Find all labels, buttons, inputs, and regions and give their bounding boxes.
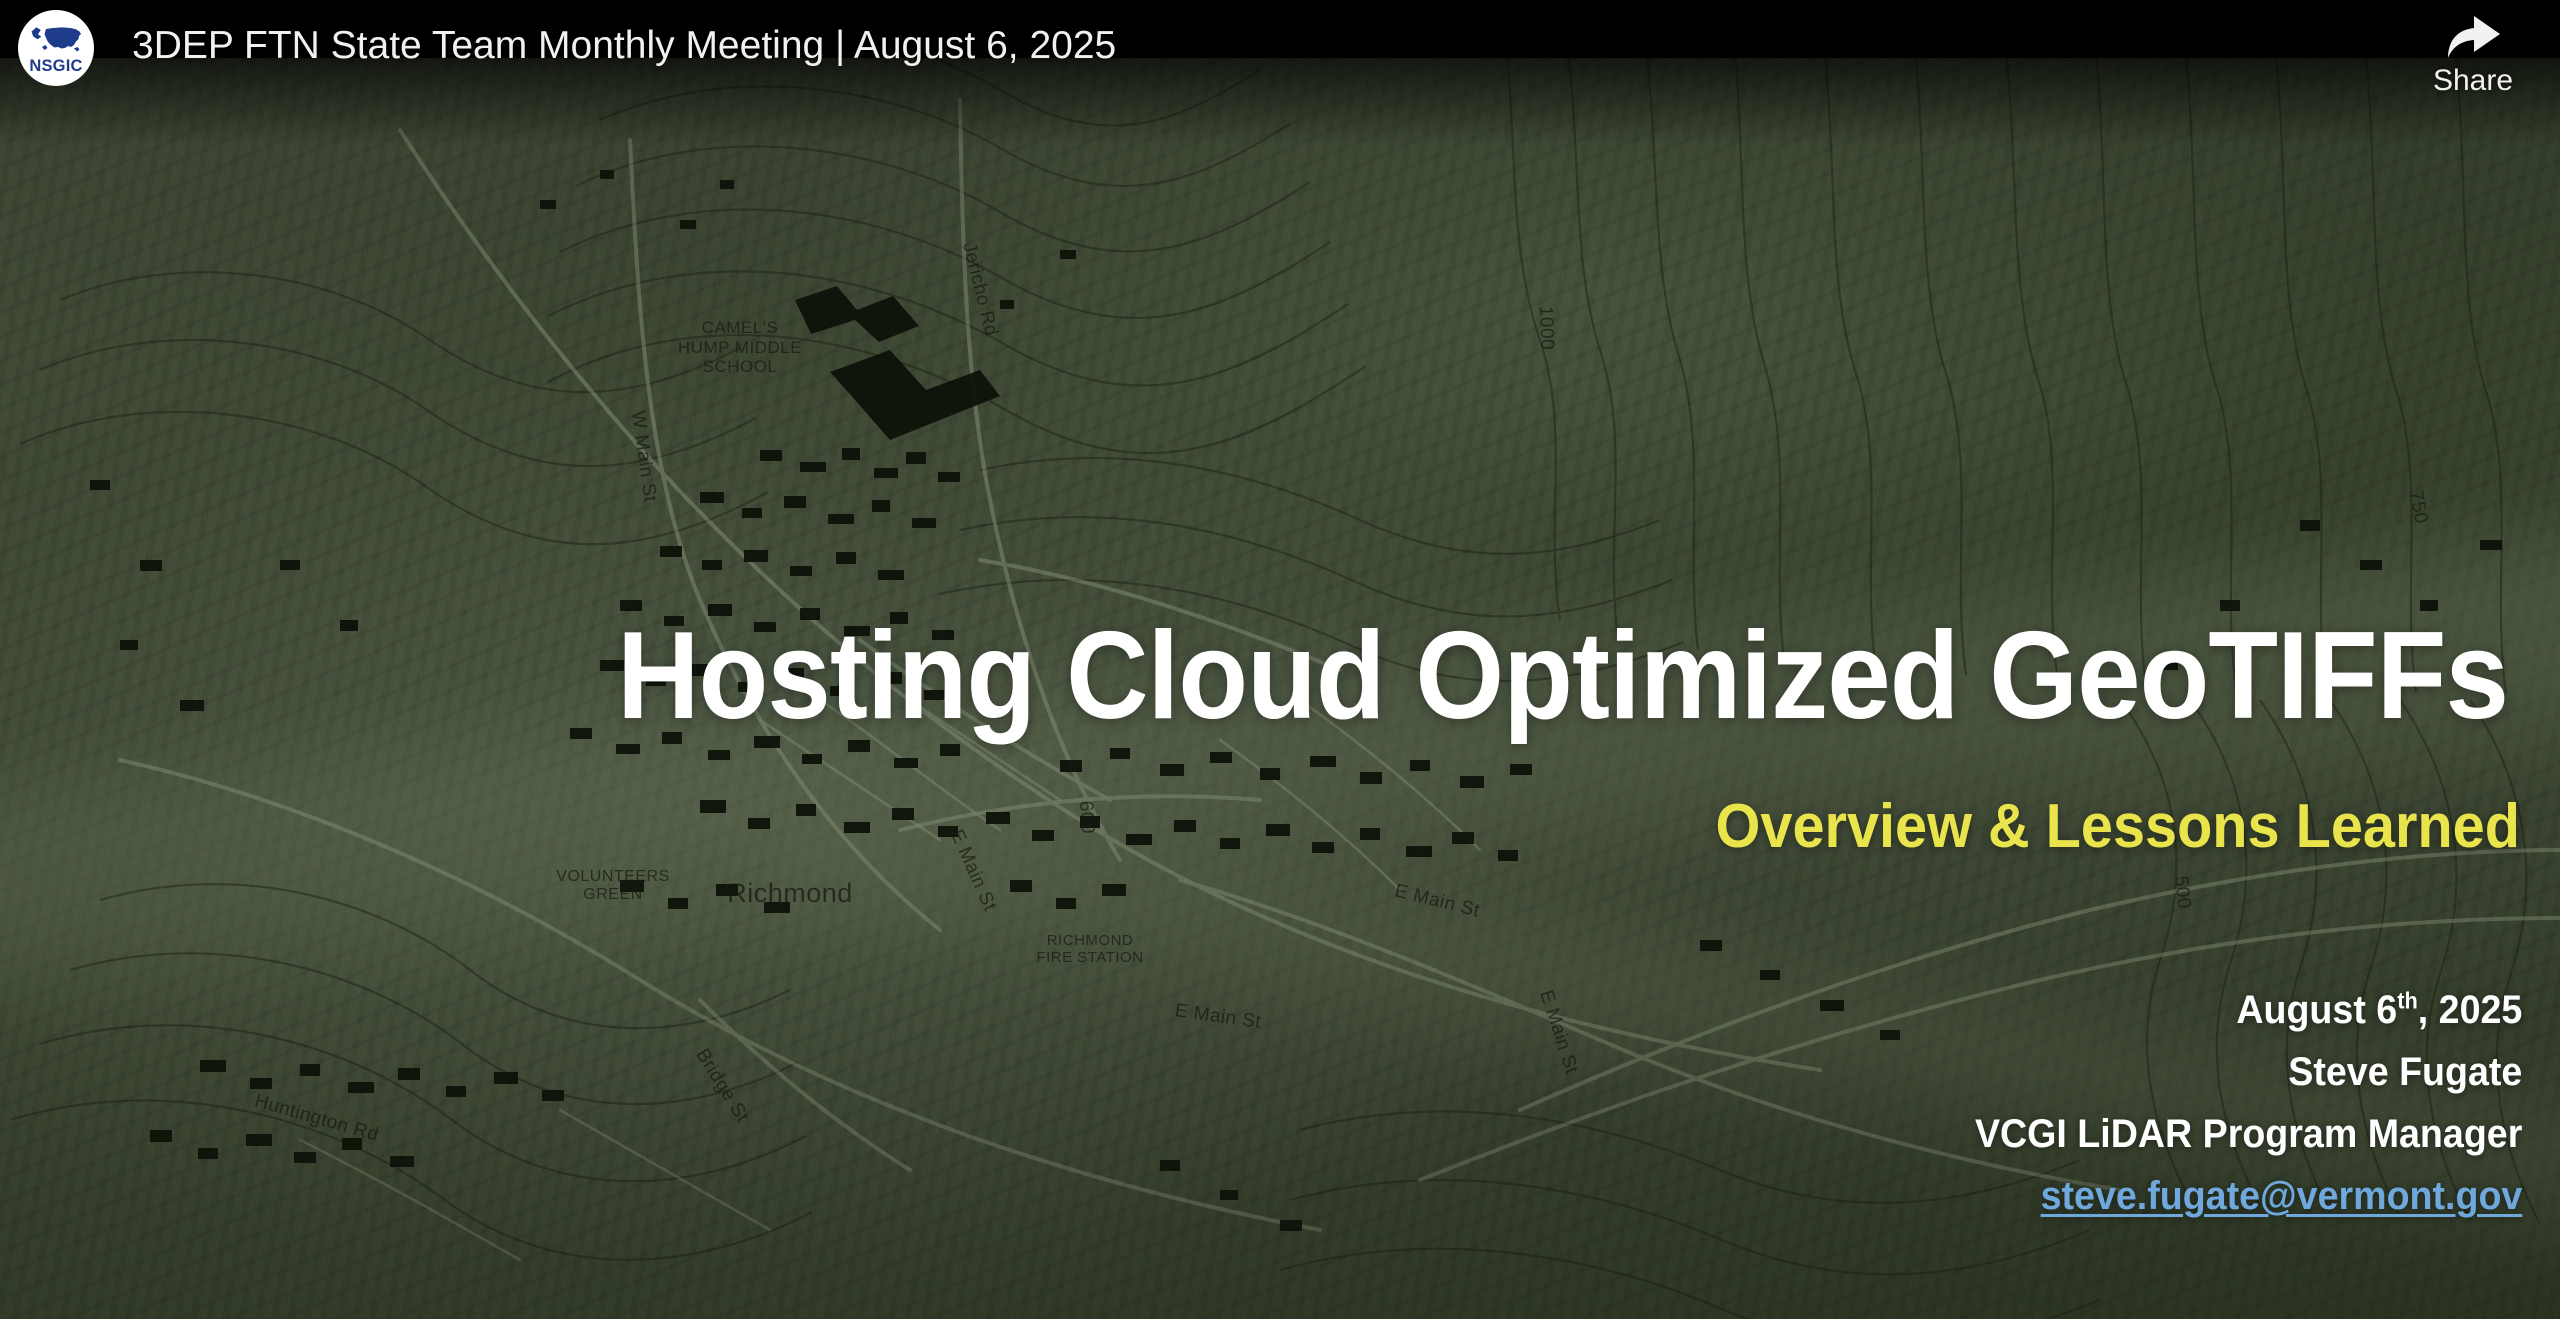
slide-title: Hosting Cloud Optimized GeoTIFFs — [201, 614, 2508, 738]
slide-meta-block: August 6th, 2025 Steve Fugate VCGI LiDAR… — [1975, 990, 2522, 1238]
slide-date: August 6th, 2025 — [1975, 990, 2522, 1030]
slide-subtitle: Overview & Lessons Learned — [1716, 796, 2520, 858]
share-arrow-icon — [2442, 12, 2504, 62]
video-player: CAMEL'S HUMP MIDDLE SCHOOLW Main StJeric… — [0, 0, 2560, 1319]
us-map-icon — [29, 25, 83, 57]
presenter-email-link[interactable]: steve.fugate@vermont.gov — [2040, 1176, 2522, 1216]
channel-logo-wordmark: NSGIC — [29, 58, 82, 75]
share-button-label: Share — [2433, 66, 2513, 96]
slide-date-ordinal: th — [2397, 988, 2418, 1014]
slide-presenter-role: VCGI LiDAR Program Manager — [1975, 1114, 2522, 1154]
slide-presenter-name: Steve Fugate — [1975, 1052, 2522, 1092]
slide-date-year: , 2025 — [2417, 988, 2522, 1032]
nsgic-channel-avatar[interactable]: NSGIC — [18, 10, 94, 86]
share-button[interactable]: Share — [2414, 12, 2532, 96]
video-title[interactable]: 3DEP FTN State Team Monthly Meeting | Au… — [132, 22, 1116, 70]
slide-presenter-email-line: steve.fugate@vermont.gov — [1975, 1176, 2522, 1216]
slide-date-monthday: August 6 — [2236, 988, 2397, 1032]
presentation-slide: CAMEL'S HUMP MIDDLE SCHOOLW Main StJeric… — [0, 0, 2560, 1319]
